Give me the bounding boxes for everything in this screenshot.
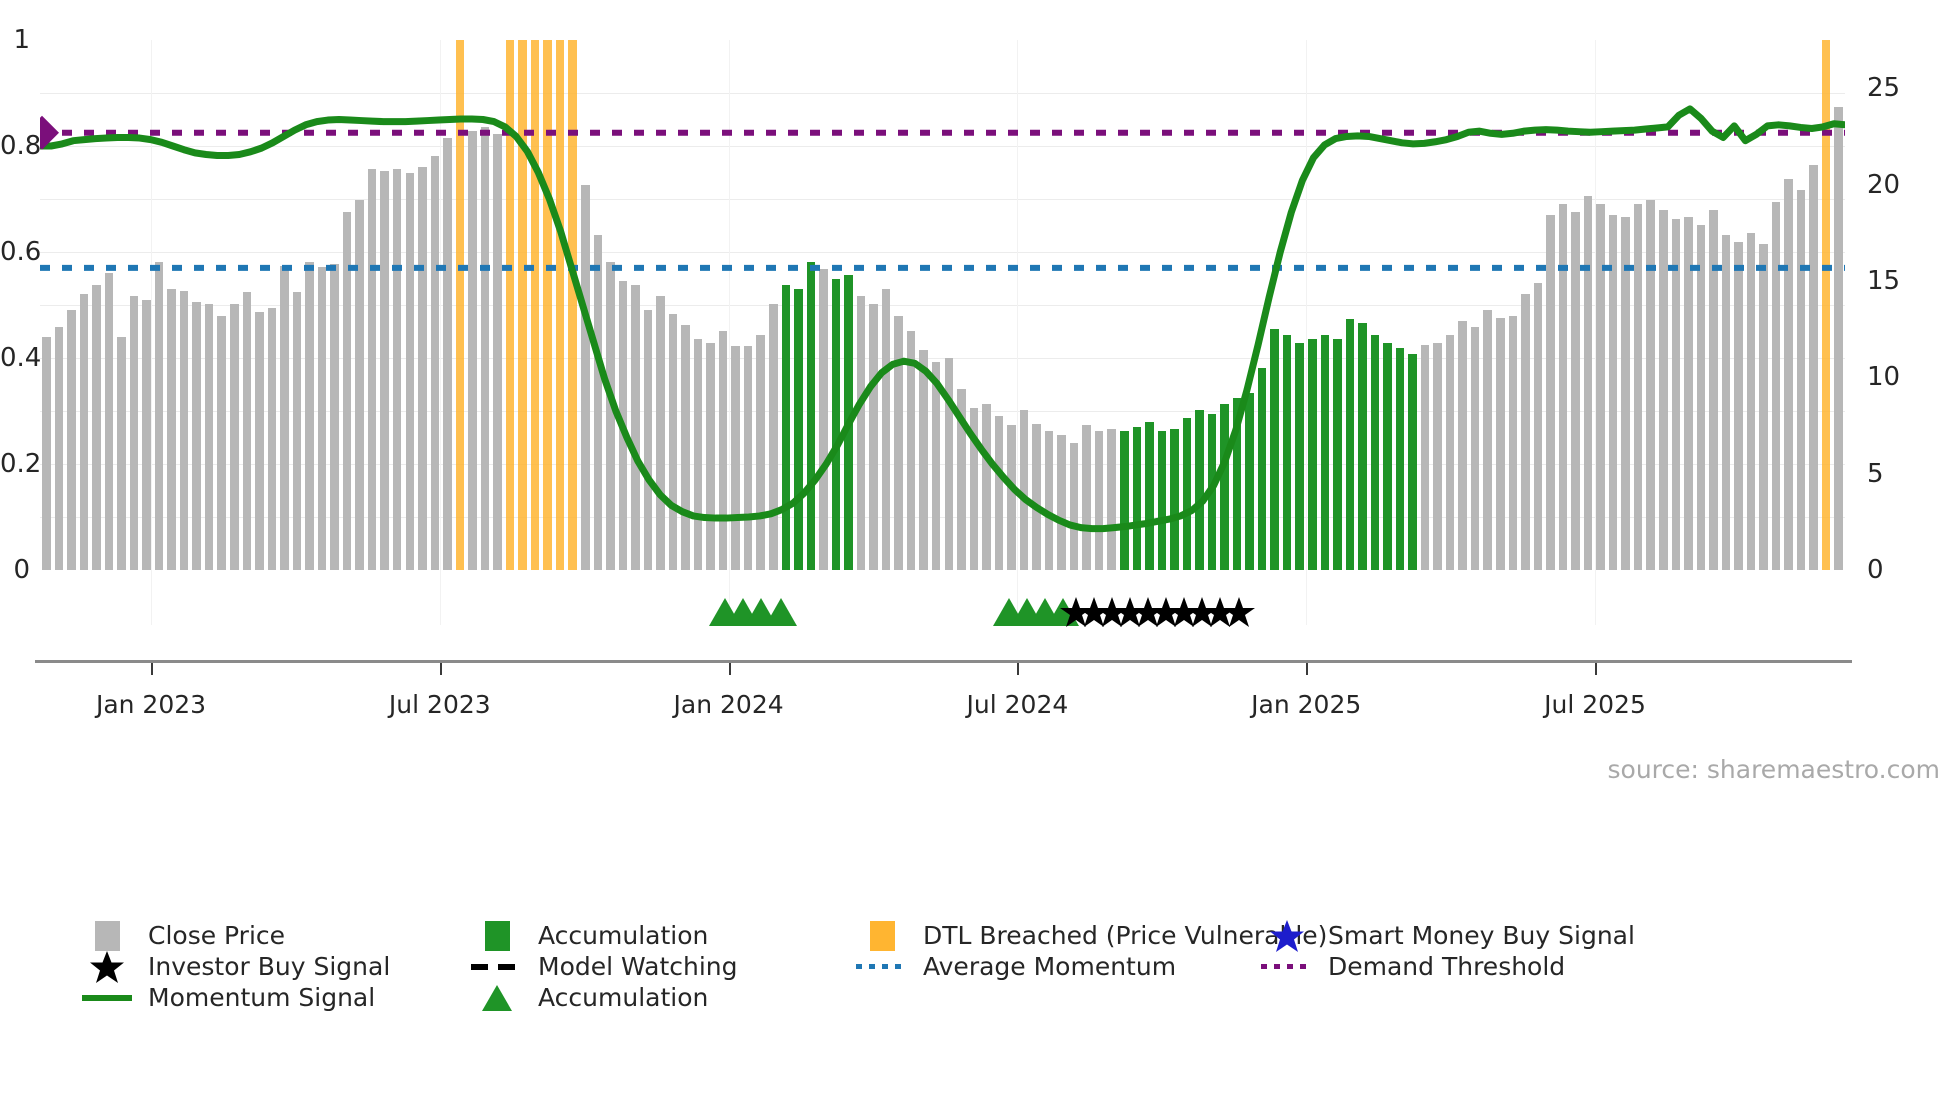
legend-row: Close PriceAccumulationDTL Breached (Pri… [78, 920, 1938, 951]
x-axis-tick [1306, 663, 1308, 675]
left-y-tick-label: 0.8 [0, 131, 30, 161]
signal-marker-row [40, 595, 1845, 635]
x-axis-tick-label: Jan 2024 [674, 690, 784, 719]
legend-row: Investor Buy SignalModel WatchingAverage… [78, 951, 1938, 982]
legend-item[interactable]: Demand Threshold [1258, 951, 1565, 982]
x-axis-tick-label: Jul 2025 [1544, 690, 1646, 719]
x-axis-tick [1017, 663, 1019, 675]
triangle-icon [482, 985, 512, 1011]
line-overlay [40, 40, 1845, 570]
chart-legend: Close PriceAccumulationDTL Breached (Pri… [78, 920, 1938, 1013]
right-y-tick-label: 25 [1867, 73, 1900, 103]
solid-line-icon [82, 995, 132, 1001]
left-y-tick-label: 0 [0, 555, 30, 585]
left-y-tick-label: 1 [0, 25, 30, 55]
plot-area [40, 40, 1845, 570]
x-axis-tick [1595, 663, 1597, 675]
x-axis-tick [729, 663, 731, 675]
left-y-tick-label: 0.6 [0, 237, 30, 267]
momentum-signal-line [40, 109, 1845, 529]
legend-item[interactable]: Average Momentum [853, 951, 1176, 982]
legend-label: Investor Buy Signal [148, 952, 390, 981]
accumulation-triangle-marker [764, 595, 798, 629]
square-swatch-icon [95, 921, 120, 951]
left-y-tick-label: 0.4 [0, 343, 30, 373]
legend-label: Model Watching [538, 952, 738, 981]
x-axis-line [35, 660, 1852, 663]
x-axis-tick-label: Jan 2023 [96, 690, 206, 719]
legend-label: Accumulation [538, 921, 708, 950]
star-icon [1270, 919, 1304, 953]
square-swatch-icon [870, 921, 895, 951]
legend-item[interactable]: Model Watching [468, 951, 738, 982]
legend-label: Accumulation [538, 983, 708, 1012]
dotted-line-icon [1261, 964, 1313, 969]
x-axis-tick [440, 663, 442, 675]
legend-row: Momentum SignalAccumulation [78, 982, 1938, 1013]
x-axis-tick-label: Jan 2025 [1251, 690, 1361, 719]
legend-label: Momentum Signal [148, 983, 375, 1012]
legend-label: Demand Threshold [1328, 952, 1565, 981]
chart-root: 10.80.60.40.20 2520151050 Jan 2023Jul 20… [0, 0, 1960, 1102]
star-icon [90, 950, 124, 984]
investor-buy-star-marker [1222, 595, 1256, 629]
legend-item[interactable]: DTL Breached (Price Vulnerable) [853, 920, 1327, 951]
legend-item[interactable]: Accumulation [468, 920, 708, 951]
right-y-tick-label: 0 [1867, 555, 1884, 585]
right-y-tick-label: 15 [1867, 266, 1900, 296]
right-y-tick-label: 20 [1867, 170, 1900, 200]
x-axis-tick-label: Jul 2023 [389, 690, 491, 719]
legend-label: Smart Money Buy Signal [1328, 921, 1635, 950]
legend-item[interactable]: Accumulation [468, 982, 708, 1013]
legend-label: Close Price [148, 921, 285, 950]
legend-item[interactable]: Momentum Signal [78, 982, 375, 1013]
x-axis-tick [151, 663, 153, 675]
left-y-tick-label: 0.2 [0, 449, 30, 479]
x-axis-tick-label: Jul 2024 [967, 690, 1069, 719]
source-attribution: source: sharemaestro.com [1608, 755, 1941, 784]
legend-item[interactable]: Close Price [78, 920, 285, 951]
legend-label: Average Momentum [923, 952, 1176, 981]
legend-item[interactable]: Investor Buy Signal [78, 951, 390, 982]
dotted-line-icon [856, 964, 908, 969]
square-swatch-icon [485, 921, 510, 951]
legend-item[interactable]: Smart Money Buy Signal [1258, 920, 1635, 951]
right-y-tick-label: 5 [1867, 459, 1884, 489]
dashed-line-icon [471, 964, 523, 970]
right-y-tick-label: 10 [1867, 362, 1900, 392]
